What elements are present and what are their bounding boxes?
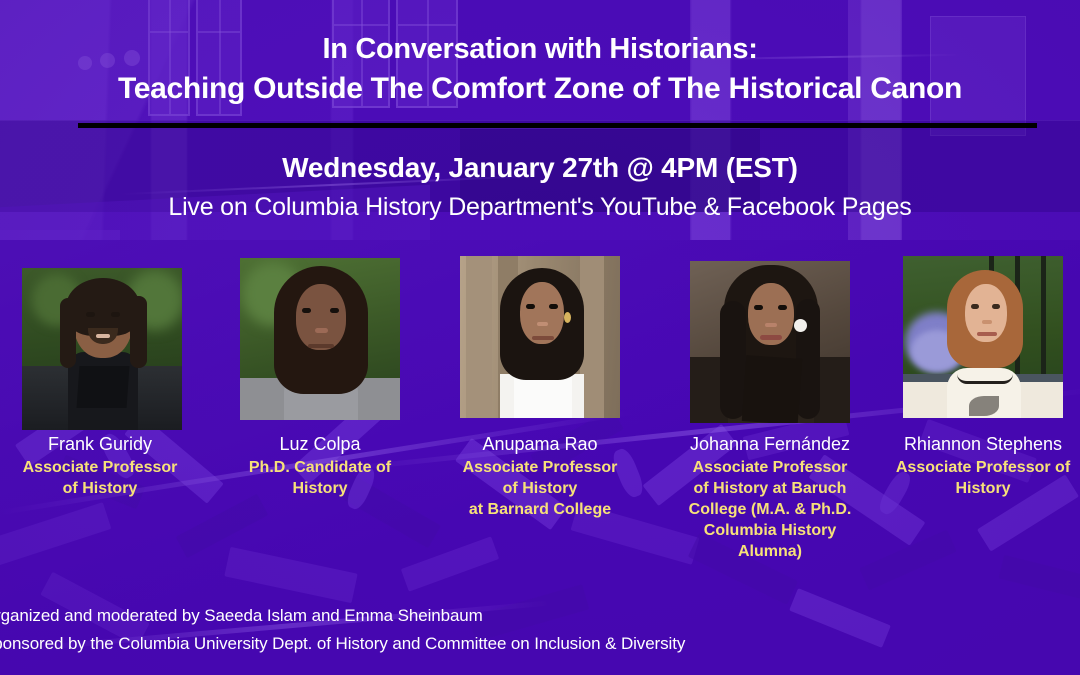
speaker-info: Luz Colpa Ph.D. Candidate of History bbox=[220, 433, 420, 499]
speaker-title-line: of History bbox=[438, 478, 642, 499]
speaker-name: Luz Colpa bbox=[220, 433, 420, 455]
speaker-title-line: History bbox=[881, 478, 1080, 499]
speaker-title: Associate Professor of History at Baruch… bbox=[674, 457, 866, 562]
speaker-title-line: Associate Professor bbox=[0, 457, 200, 478]
footer-organizers: Organized and moderated by Saeeda Islam … bbox=[0, 602, 1080, 630]
speaker-title-line: of History at Baruch bbox=[674, 478, 866, 499]
speaker-list: Frank Guridy Associate Professor of Hist… bbox=[0, 255, 1080, 595]
speaker-title-line: Associate Professor bbox=[438, 457, 642, 478]
speaker-title: Associate Professor of History at Barnar… bbox=[438, 457, 642, 520]
speaker-title-line: Ph.D. Candidate of bbox=[220, 457, 420, 478]
event-datetime-block: Wednesday, January 27th @ 4PM (EST) Live… bbox=[0, 148, 1080, 226]
speaker-info: Rhiannon Stephens Associate Professor of… bbox=[881, 433, 1080, 499]
speaker-title: Ph.D. Candidate of History bbox=[220, 457, 420, 499]
footer: Organized and moderated by Saeeda Islam … bbox=[0, 602, 1080, 658]
speaker-card: Johanna Fernández Associate Professor of… bbox=[690, 255, 850, 417]
page-title-line1: In Conversation with Historians: bbox=[0, 0, 1080, 66]
divider-rule bbox=[78, 123, 1037, 128]
speaker-info: Frank Guridy Associate Professor of Hist… bbox=[0, 433, 200, 499]
speaker-title-line: History bbox=[220, 478, 420, 499]
speaker-card: Rhiannon Stephens Associate Professor of… bbox=[903, 255, 1063, 417]
header: In Conversation with Historians: Teachin… bbox=[0, 0, 1080, 107]
speaker-photo bbox=[240, 258, 400, 420]
speaker-photo bbox=[903, 256, 1063, 418]
event-stream-info: Live on Columbia History Department's Yo… bbox=[0, 188, 1080, 226]
speaker-photo bbox=[460, 256, 620, 418]
event-flyer: In Conversation with Historians: Teachin… bbox=[0, 0, 1080, 675]
speaker-title-line: of History bbox=[0, 478, 200, 499]
page-title-line2: Teaching Outside The Comfort Zone of The… bbox=[0, 66, 1080, 107]
event-date: Wednesday, January 27th @ 4PM (EST) bbox=[0, 148, 1080, 188]
speaker-name: Anupama Rao bbox=[438, 433, 642, 455]
speaker-name: Johanna Fernández bbox=[674, 433, 866, 455]
speaker-photo bbox=[22, 268, 182, 430]
speaker-info: Johanna Fernández Associate Professor of… bbox=[674, 433, 866, 562]
speaker-card: Luz Colpa Ph.D. Candidate of History bbox=[240, 255, 400, 417]
speaker-title-line: Associate Professor of bbox=[881, 457, 1080, 478]
speaker-photo bbox=[690, 261, 850, 423]
speaker-title-line: Associate Professor bbox=[674, 457, 866, 478]
footer-sponsors: Sponsored by the Columbia University Dep… bbox=[0, 630, 1080, 658]
speaker-info: Anupama Rao Associate Professor of Histo… bbox=[438, 433, 642, 520]
speaker-title-line: College (M.A. & Ph.D. bbox=[674, 499, 866, 520]
speaker-title: Associate Professor of History bbox=[0, 457, 200, 499]
speaker-card: Frank Guridy Associate Professor of Hist… bbox=[22, 255, 182, 417]
speaker-title-line: at Barnard College bbox=[438, 499, 642, 520]
speaker-name: Frank Guridy bbox=[0, 433, 200, 455]
speaker-name: Rhiannon Stephens bbox=[881, 433, 1080, 455]
speaker-card: Anupama Rao Associate Professor of Histo… bbox=[460, 255, 620, 417]
speaker-title: Associate Professor of History bbox=[881, 457, 1080, 499]
speaker-title-line: Alumna) bbox=[674, 541, 866, 562]
speaker-title-line: Columbia History bbox=[674, 520, 866, 541]
